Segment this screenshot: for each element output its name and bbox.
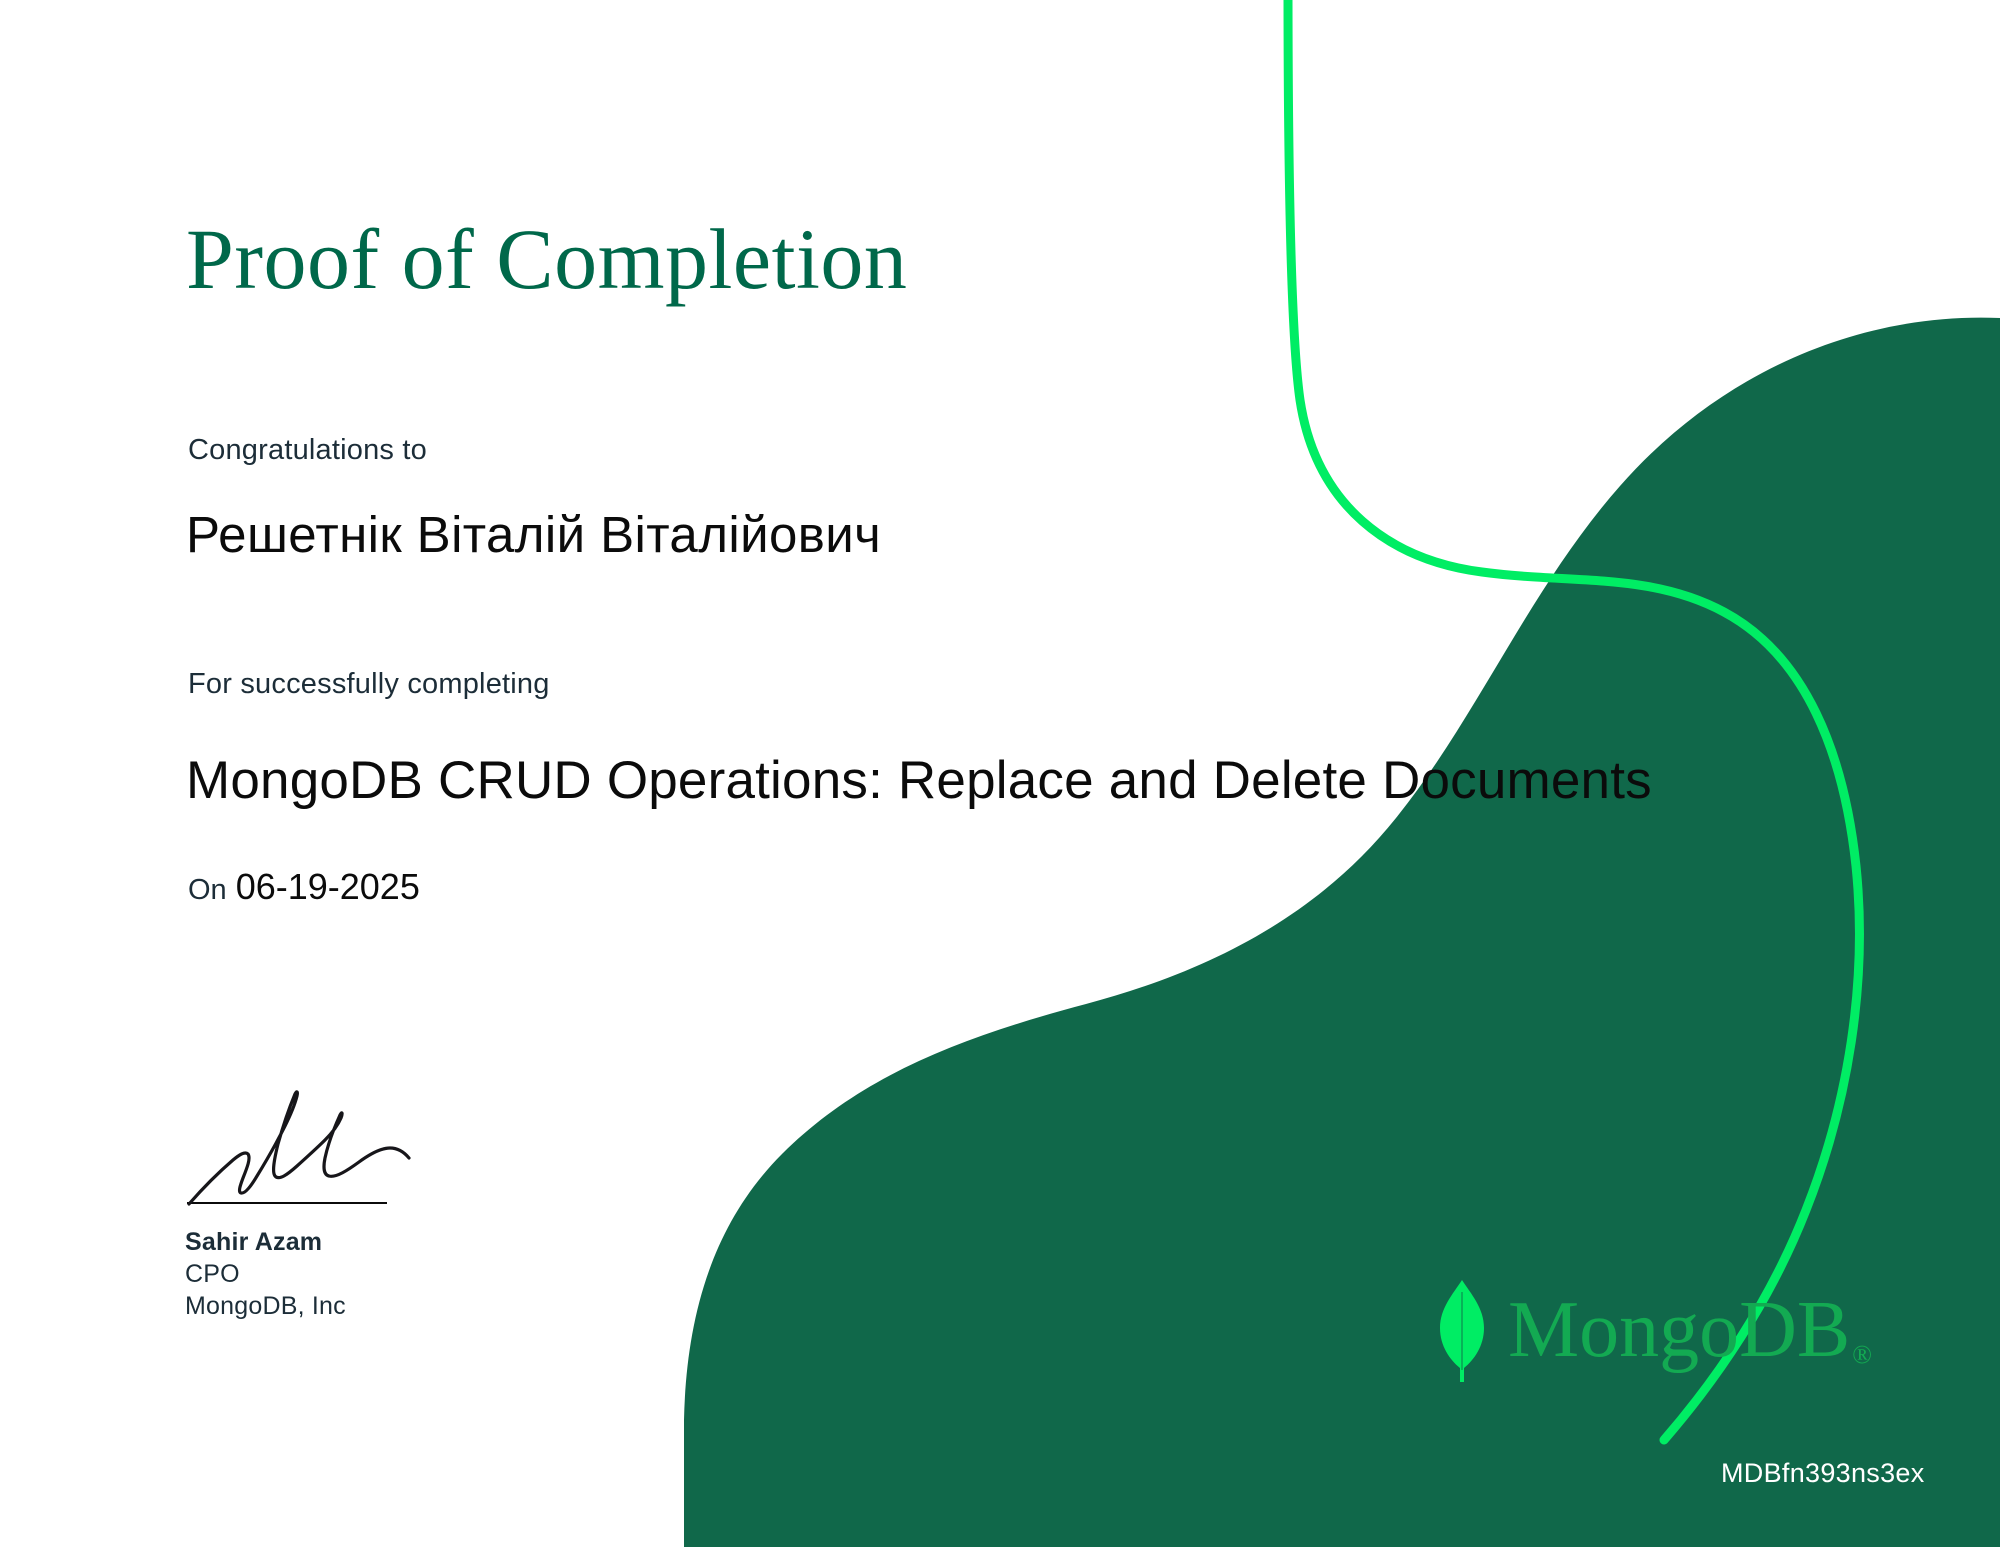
- completing-label: For successfully completing: [188, 668, 550, 701]
- registered-trademark-icon: ®: [1852, 1340, 1872, 1370]
- signature-divider: [187, 1202, 387, 1204]
- green-ribbon-curve: [1288, 0, 1859, 1440]
- date-prefix-label: On: [188, 874, 227, 906]
- page-title: Proof of Completion: [186, 216, 907, 302]
- handwritten-signature-icon: [185, 1068, 415, 1208]
- mongodb-leaf-icon: [1434, 1278, 1490, 1382]
- course-title: MongoDB CRUD Operations: Replace and Del…: [186, 750, 1652, 811]
- signatory-role: CPO: [185, 1260, 415, 1289]
- completion-date: On06-19-2025: [188, 866, 420, 908]
- signatory-name: Sahir Azam: [185, 1228, 415, 1257]
- mongodb-logo: MongoDB ®: [1434, 1278, 1872, 1382]
- certificate-id: MDBfn393ns3ex: [1721, 1458, 1925, 1489]
- mongodb-wordmark: MongoDB: [1508, 1290, 1850, 1370]
- signatory-organization: MongoDB, Inc: [185, 1292, 415, 1321]
- date-value: 06-19-2025: [236, 866, 420, 907]
- certificate-page: Proof of Completion Congratulations to Р…: [0, 0, 2000, 1547]
- signature-block: Sahir Azam CPO MongoDB, Inc: [185, 1068, 415, 1321]
- congratulations-label: Congratulations to: [188, 434, 427, 467]
- recipient-name: Решетнік Віталій Віталійович: [186, 505, 881, 564]
